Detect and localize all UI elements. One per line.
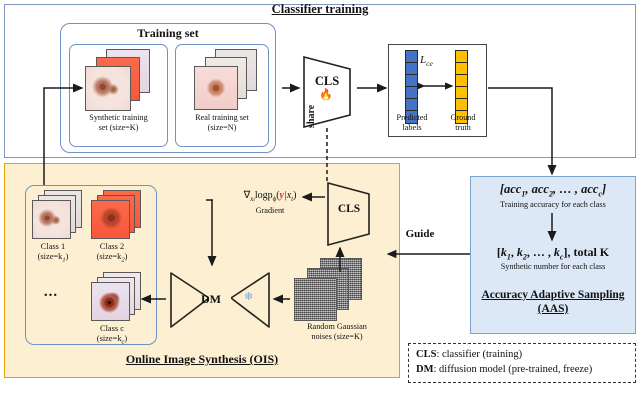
- classc-thumb-1: [91, 282, 130, 321]
- synthetic-caption-line2: set (size=K): [99, 123, 139, 132]
- aas-title-line1: Accuracy Adaptive Sampling: [481, 289, 624, 301]
- legend-dm-key: DM: [416, 364, 434, 375]
- real-set-caption: Real training set (size=N): [175, 113, 269, 132]
- legend-cls-row: CLS: classifier (training): [416, 349, 522, 360]
- gt-cell: [456, 51, 467, 63]
- aas-title: Accuracy Adaptive Sampling (AAS): [472, 288, 634, 316]
- accuracy-vector: [acc1, acc2, … , accc]: [472, 182, 634, 199]
- classifier-label-top: CLS: [300, 74, 354, 89]
- gt-caption-line2: truth: [455, 123, 470, 132]
- synthetic-set-caption: Synthetic training set (size=K): [69, 113, 168, 132]
- classc-size: (size=kc): [97, 334, 127, 343]
- gt-cell: [456, 87, 467, 99]
- pred-cell: [406, 99, 417, 111]
- legend-cls-desc: : classifier (training): [436, 349, 522, 360]
- gradient-formula: ∇xtlogpϕ(y|xt): [206, 190, 334, 203]
- pred-cell: [406, 75, 417, 87]
- legend-cls-key: CLS: [416, 349, 436, 360]
- gt-cell: [456, 99, 467, 111]
- training-set-title: Training set: [60, 26, 276, 41]
- legend-dm-desc: : diffusion model (pre-trained, freeze): [434, 364, 593, 375]
- synthetic-caption-line1: Synthetic training: [89, 113, 147, 122]
- share-label: share: [306, 105, 317, 128]
- snowflake-icon: ❄: [244, 292, 253, 303]
- accuracy-vector-caption: Training accuracy for each class: [472, 200, 634, 210]
- class1-thumb-1: [32, 200, 71, 239]
- real-caption-line1: Real training set: [195, 113, 249, 122]
- k-vector-suffix: ], total K: [563, 245, 609, 259]
- class2-thumb-1: [91, 200, 130, 239]
- real-thumb-1: [194, 66, 238, 110]
- pred-cell: [406, 63, 417, 75]
- classc-label: Class c (size=kc): [83, 324, 141, 348]
- pred-caption-line2: labels: [402, 123, 421, 132]
- ground-truth-caption: Ground truth: [443, 113, 483, 132]
- pred-cell: [406, 87, 417, 99]
- classc-name: Class c: [100, 324, 124, 333]
- aas-title-line2: (AAS): [538, 303, 569, 315]
- class1-label: Class 1 (size=k1): [24, 242, 82, 266]
- legend-dm-row: DM: diffusion model (pre-trained, freeze…: [416, 364, 592, 375]
- predicted-labels-caption: Predicted labels: [386, 113, 438, 132]
- gt-cell: [456, 75, 467, 87]
- synthetic-thumb-1: [85, 66, 131, 111]
- noise-thumb-1: [294, 278, 337, 321]
- loss-subscript: ce: [426, 59, 433, 68]
- noise-caption-line1: Random Gaussian: [307, 322, 367, 331]
- class1-size: (size=k1): [38, 252, 69, 261]
- class1-name: Class 1: [41, 242, 65, 251]
- synthetic-number-caption: Synthetic number for each class: [472, 262, 634, 272]
- class2-size: (size=k2): [97, 252, 128, 261]
- noise-caption-line2: noises (size=K): [311, 332, 362, 341]
- diffusion-model-label: DM: [168, 292, 254, 307]
- class-ellipsis: ...: [34, 284, 68, 301]
- class2-name: Class 2: [100, 242, 124, 251]
- gradient-caption: Gradient: [206, 206, 334, 216]
- flame-icon: 🔥: [319, 90, 333, 101]
- synthetic-number-vector: [k1, k2, … , kc], total K: [472, 245, 634, 261]
- class2-label: Class 2 (size=k2): [83, 242, 141, 266]
- gaussian-noise-caption: Random Gaussian noises (size=K): [285, 322, 389, 341]
- gt-cell: [456, 63, 467, 75]
- ois-panel-title: Online Image Synthesis (OIS): [4, 352, 400, 367]
- classifier-training-title: Classifier training: [0, 2, 640, 17]
- real-caption-line2: (size=N): [208, 123, 237, 132]
- pred-caption-line1: Predicted: [397, 113, 428, 122]
- gt-caption-line1: Ground: [450, 113, 475, 122]
- pred-cell: [406, 51, 417, 63]
- cross-entropy-loss-label: Lce: [420, 54, 433, 68]
- guide-label: Guide: [378, 228, 462, 240]
